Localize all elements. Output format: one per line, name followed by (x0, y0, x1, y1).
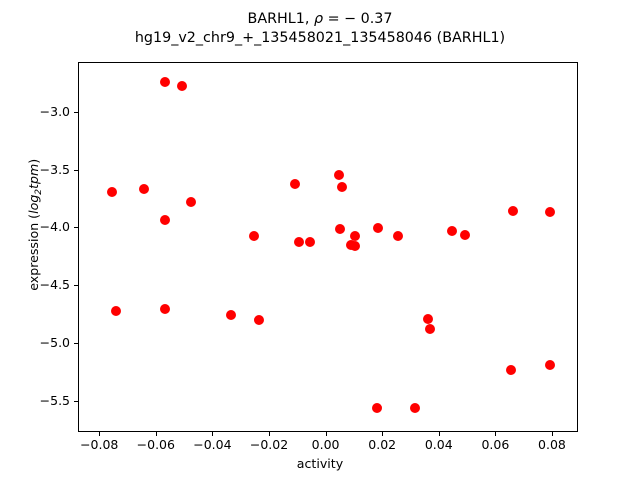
figure-title-block: BARHL1, ρ = − 0.37 hg19_v2_chr9_+_135458… (0, 10, 640, 48)
y-label-prefix: expression ( (26, 214, 41, 291)
rho-symbol: ρ (314, 11, 323, 27)
y-tick-label: −5.5 (10, 393, 70, 408)
data-point (350, 241, 360, 251)
x-tick-mark (99, 432, 100, 436)
x-tick-mark (382, 432, 383, 436)
data-point (337, 182, 347, 192)
data-point (506, 365, 516, 375)
rho-value: = − 0.37 (323, 11, 392, 27)
scatter-plot-figure: BARHL1, ρ = − 0.37 hg19_v2_chr9_+_135458… (0, 0, 640, 480)
data-point (334, 170, 344, 180)
data-point (186, 197, 196, 207)
data-point (294, 237, 304, 247)
y-label-log: log (26, 195, 41, 214)
data-point (160, 77, 170, 87)
y-tick-mark (74, 285, 78, 286)
data-point (350, 231, 360, 241)
scatter-points-layer (79, 63, 577, 431)
y-label-subscript: 2 (34, 189, 44, 195)
data-point (545, 207, 555, 217)
data-point (508, 206, 518, 216)
data-point (160, 304, 170, 314)
y-label-suffix: ) (26, 159, 41, 164)
x-tick-mark (212, 432, 213, 436)
data-point (107, 187, 117, 197)
y-tick-mark (74, 343, 78, 344)
y-tick-mark (74, 401, 78, 402)
data-point (423, 314, 433, 324)
data-point (139, 184, 149, 194)
data-point (460, 230, 470, 240)
data-point (254, 315, 264, 325)
y-tick-mark (74, 112, 78, 113)
figure-title-line-1: BARHL1, ρ = − 0.37 (0, 10, 640, 29)
data-point (447, 226, 457, 236)
x-tick-mark (326, 432, 327, 436)
data-point (249, 231, 259, 241)
x-tick-mark (156, 432, 157, 436)
plot-axes-frame (78, 62, 578, 432)
title-gene-prefix: BARHL1, (248, 11, 314, 27)
x-tick-label: 0.08 (517, 437, 587, 452)
data-point (425, 324, 435, 334)
data-point (111, 306, 121, 316)
y-axis-label: expression (log2tpm) (26, 95, 44, 355)
data-point (177, 81, 187, 91)
data-point (290, 179, 300, 189)
data-point (373, 223, 383, 233)
x-tick-mark (552, 432, 553, 436)
data-point (160, 215, 170, 225)
x-tick-mark (269, 432, 270, 436)
x-tick-mark (439, 432, 440, 436)
data-point (305, 237, 315, 247)
x-axis-label: activity (0, 456, 640, 471)
data-point (335, 224, 345, 234)
data-point (393, 231, 403, 241)
y-tick-mark (74, 170, 78, 171)
figure-title-line-2: hg19_v2_chr9_+_135458021_135458046 (BARH… (0, 29, 640, 48)
data-point (410, 403, 420, 413)
y-label-unit: tpm (26, 164, 41, 189)
x-tick-mark (495, 432, 496, 436)
data-point (226, 310, 236, 320)
data-point (372, 403, 382, 413)
y-tick-mark (74, 227, 78, 228)
data-point (545, 360, 555, 370)
